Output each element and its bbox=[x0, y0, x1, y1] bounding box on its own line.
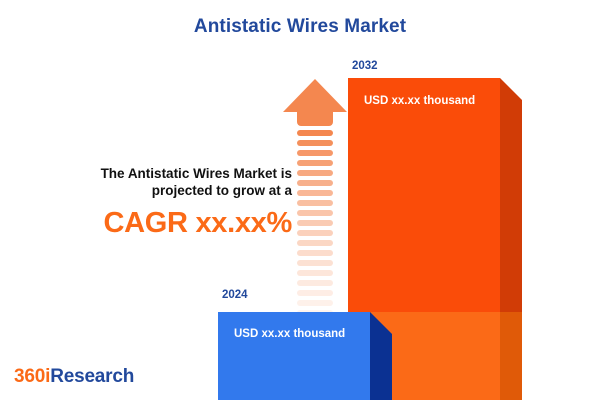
arrow-stripe bbox=[297, 190, 333, 196]
arrow-stripe bbox=[297, 200, 333, 206]
arrow-stripe bbox=[297, 240, 333, 246]
arrow-stripe bbox=[297, 210, 333, 216]
infographic-canvas: Antistatic Wires Market The Antistatic W… bbox=[0, 0, 600, 400]
arrow-neck bbox=[297, 111, 333, 126]
bar-2024-value-label: USD xx.xx thousand bbox=[234, 328, 345, 340]
arrow-stripe bbox=[297, 300, 333, 306]
bar-2032-side-lower bbox=[500, 312, 522, 400]
arrow-stripe bbox=[297, 250, 333, 256]
callout-line-2: projected to grow at a bbox=[42, 182, 292, 199]
cagr-value: CAGR xx.xx% bbox=[42, 208, 292, 239]
page-title: Antistatic Wires Market bbox=[0, 16, 600, 38]
arrow-stripe bbox=[297, 180, 333, 186]
bar-2024 bbox=[218, 312, 370, 400]
growth-arrow-icon bbox=[283, 79, 347, 293]
logo-360i-text: 360i bbox=[14, 366, 50, 387]
arrow-stripe bbox=[297, 230, 333, 236]
logo-research-text: Research bbox=[50, 366, 134, 387]
year-label-2032: 2032 bbox=[352, 60, 378, 72]
bar-2032-value-label: USD xx.xx thousand bbox=[364, 95, 475, 107]
bar-2024-face bbox=[218, 312, 370, 400]
arrow-stripe bbox=[297, 290, 333, 296]
brand-logo[interactable]: 360iResearch bbox=[14, 366, 134, 388]
arrow-stripe bbox=[297, 170, 333, 176]
arrow-stripe bbox=[297, 270, 333, 276]
arrow-stripe bbox=[297, 280, 333, 286]
arrow-stripe bbox=[297, 140, 333, 146]
arrow-stripe bbox=[297, 260, 333, 266]
arrow-stripe bbox=[297, 150, 333, 156]
arrow-head-icon bbox=[283, 79, 347, 112]
year-label-2024: 2024 bbox=[222, 289, 248, 301]
callout-text-block: The Antistatic Wires Market is projected… bbox=[42, 165, 292, 239]
arrow-stripe bbox=[297, 160, 333, 166]
callout-line-1: The Antistatic Wires Market is bbox=[42, 165, 292, 182]
arrow-stripe bbox=[297, 130, 333, 136]
arrow-stripe bbox=[297, 220, 333, 226]
